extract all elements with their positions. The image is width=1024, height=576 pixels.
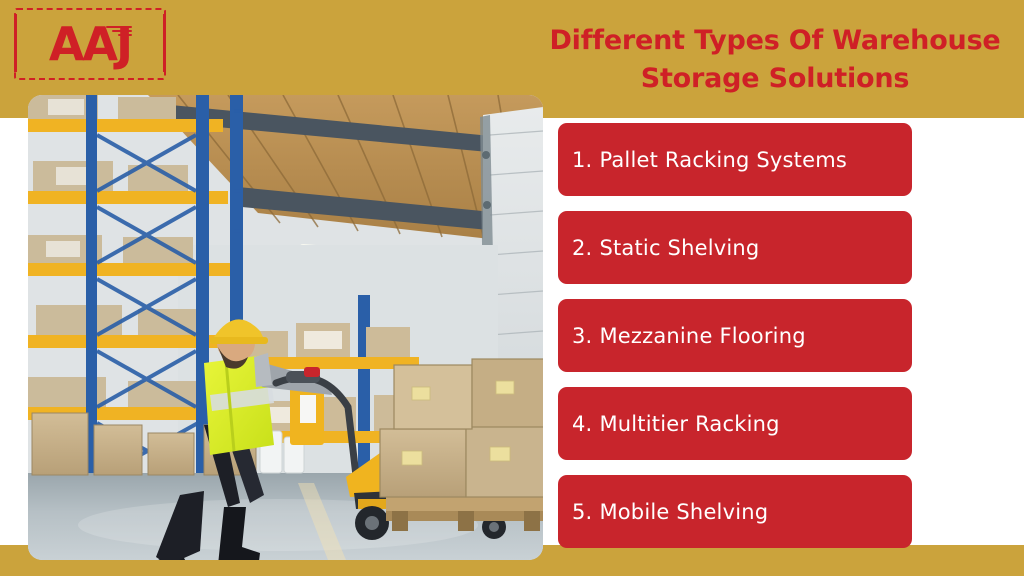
list-item-number: 5. xyxy=(572,500,592,524)
list-item-number: 4. xyxy=(572,412,592,436)
list-item[interactable]: 1. Pallet Racking Systems xyxy=(558,123,912,196)
list-item-label: Mezzanine Flooring xyxy=(599,324,805,348)
speed-lines-icon xyxy=(106,26,132,38)
list-item[interactable]: 5. Mobile Shelving xyxy=(558,475,912,548)
page-title-line2: Storage Solutions xyxy=(641,63,910,94)
brand-logo: AAJ xyxy=(14,8,166,80)
warehouse-photo xyxy=(28,95,543,560)
logo-wordmark: AAJ xyxy=(14,21,166,67)
list-item[interactable]: 4. Multitier Racking xyxy=(558,387,912,460)
storage-solutions-list: 1. Pallet Racking Systems 2. Static Shel… xyxy=(558,123,912,548)
list-item-number: 1. xyxy=(572,148,592,172)
warehouse-illustration xyxy=(28,95,543,560)
page-title-line1: Different Types Of Warehouse xyxy=(549,25,1000,56)
list-item-label: Multitier Racking xyxy=(599,412,779,436)
list-item-number: 2. xyxy=(572,236,592,260)
list-item[interactable]: 2. Static Shelving xyxy=(558,211,912,284)
list-item[interactable]: 3. Mezzanine Flooring xyxy=(558,299,912,372)
list-item-label: Mobile Shelving xyxy=(599,500,768,524)
list-item-number: 3. xyxy=(572,324,592,348)
list-item-label: Pallet Racking Systems xyxy=(599,148,847,172)
list-item-label: Static Shelving xyxy=(599,236,759,260)
page-title: Different Types Of Warehouse Storage Sol… xyxy=(540,22,1010,99)
